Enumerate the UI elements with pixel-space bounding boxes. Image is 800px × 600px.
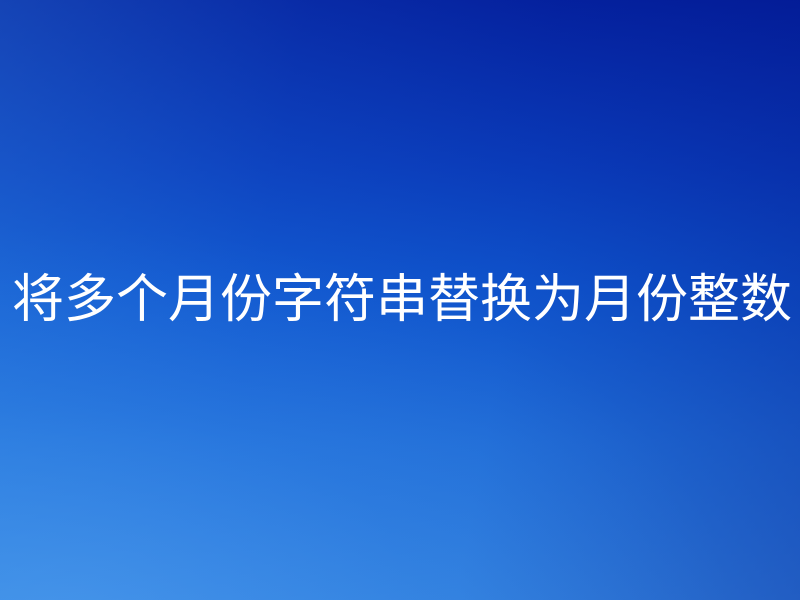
title-card-canvas: 将多个月份字符串替换为月份整数 xyxy=(0,0,800,600)
title-block: 将多个月份字符串替换为月份整数 xyxy=(0,0,800,600)
page-title: 将多个月份字符串替换为月份整数 xyxy=(12,260,794,340)
